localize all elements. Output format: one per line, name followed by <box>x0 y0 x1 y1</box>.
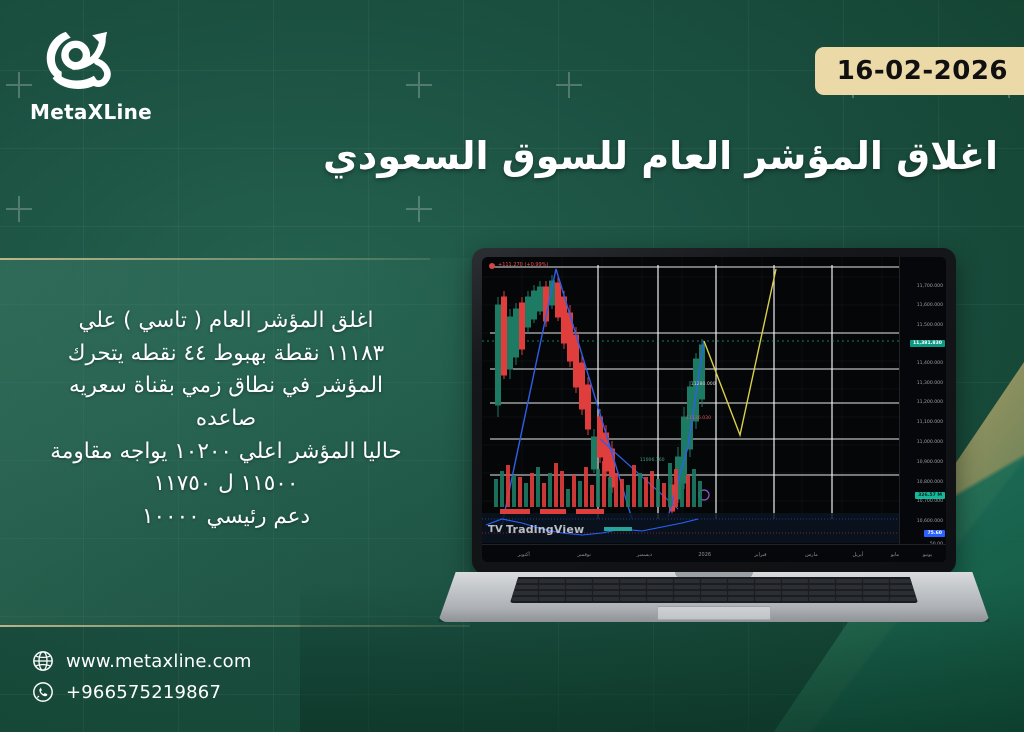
time-tick: 2026 <box>698 552 711 558</box>
time-tick: فبراير <box>754 552 766 558</box>
price-tick: 11,000.000 <box>917 440 943 445</box>
grid-plus-icon <box>556 72 582 98</box>
body-line: ١١١٨٣ نقطة بهبوط ٤٤ نقطه يتحرك <box>0 338 452 371</box>
price-tick: 11,100.000 <box>917 420 943 425</box>
time-tick: يونيو <box>923 552 932 558</box>
price-tick: 11,700.000 <box>917 284 943 289</box>
tradingview-logo-icon: TV <box>488 524 503 535</box>
laptop-lid: +111.270 (+0.99%) 11136.030 11006.160 11… <box>472 248 956 574</box>
price-tick: 11,300.000 <box>917 381 943 386</box>
quote-change-label: +111.270 (+0.99%) <box>498 262 548 268</box>
laptop-keyboard <box>510 577 918 603</box>
body-line: دعم رئيسي ١٠٠٠٠ <box>0 501 452 534</box>
body-line: اغلق المؤشر العام ( تاسي ) علي <box>0 305 452 338</box>
whatsapp-icon <box>32 681 54 703</box>
time-tick: مايو <box>891 552 899 558</box>
phone-text: +966575219867 <box>66 682 221 703</box>
chart-price-axis[interactable]: 11,700.000 11,600.000 11,500.000 11,381.… <box>899 257 946 562</box>
body-line: المؤشر في نطاق زمي بقناة سعريه <box>0 370 452 403</box>
brand-name: MetaXLine <box>30 100 150 124</box>
chart-annotation: 11136.030 <box>686 416 711 421</box>
time-tick: ديسمبر <box>637 552 652 558</box>
price-tick: 10,600.000 <box>917 519 943 524</box>
grid-plus-icon <box>406 72 432 98</box>
laptop-mockup: +111.270 (+0.99%) 11136.030 11006.160 11… <box>438 248 990 648</box>
brand-logo[interactable]: MetaXLine <box>30 22 150 124</box>
page-title: اغلاق المؤشر العام للسوق السعودي <box>238 133 998 181</box>
price-tick: 11,500.000 <box>917 323 943 328</box>
keyboard-row <box>512 591 916 595</box>
poster-canvas: MetaXLine 16-02-2026 اغلاق المؤشر العام … <box>0 0 1024 732</box>
chart-annotation: 11006.160 <box>640 458 665 463</box>
website-text: www.metaxline.com <box>66 651 252 672</box>
yellow-projection <box>704 269 776 435</box>
chart-time-axis[interactable]: أكتوبر نوفمبر ديسمبر 2026 فبراير مارس أب… <box>482 544 946 562</box>
time-tick: نوفمبر <box>577 552 591 558</box>
grid-plus-icon <box>6 72 32 98</box>
price-tick: 11,400.000 <box>917 361 943 366</box>
volume-badge: 326.57 M <box>915 492 945 499</box>
price-tick: 10,900.000 <box>917 460 943 465</box>
rsi-badge: 75.60 <box>924 530 945 537</box>
grid-plus-icon <box>406 196 432 222</box>
chart-annotation: 11280.000 <box>691 382 716 387</box>
price-tick: 10,800.000 <box>917 480 943 485</box>
price-tick: 11,600.000 <box>917 303 943 308</box>
grid-plus-icon <box>6 196 32 222</box>
body-copy: اغلق المؤشر العام ( تاسي ) علي ١١١٨٣ نقط… <box>0 305 452 534</box>
body-line: ١١٥٠٠ ل ١١٧٥٠ <box>0 468 452 501</box>
tradingview-chart[interactable]: +111.270 (+0.99%) 11136.030 11006.160 11… <box>482 257 946 562</box>
website-row[interactable]: www.metaxline.com <box>32 650 252 672</box>
tradingview-watermark-text: TradingView <box>506 523 584 536</box>
metaxline-arrow-logo-icon <box>36 22 122 98</box>
time-tick: مارس <box>805 552 818 558</box>
time-tick: أبريل <box>852 552 863 558</box>
keyboard-row <box>512 585 916 589</box>
current-price-badge: 11,381.830 <box>910 340 945 347</box>
keyboard-row <box>512 579 916 583</box>
tradingview-watermark: TV TradingView <box>488 523 584 536</box>
body-line: حاليا المؤشر اعلي ١٠٢٠٠ يواجه مقاومة <box>0 436 452 469</box>
time-tick: أكتوبر <box>518 552 530 558</box>
laptop-screen: +111.270 (+0.99%) 11136.030 11006.160 11… <box>482 257 946 562</box>
phone-row[interactable]: +966575219867 <box>32 681 252 703</box>
panel-divider-top <box>0 258 430 260</box>
price-tick: 10,700.000 <box>917 499 943 504</box>
laptop-trackpad <box>657 606 771 620</box>
chart-gridlines <box>482 257 946 562</box>
contact-footer: www.metaxline.com +966575219867 <box>32 650 252 712</box>
body-line: صاعده <box>0 403 452 436</box>
date-badge: 16-02-2026 <box>815 47 1024 95</box>
globe-icon <box>32 650 54 672</box>
quote-marker-icon <box>489 263 495 269</box>
keyboard-row <box>512 597 916 601</box>
price-tick: 11,200.000 <box>917 400 943 405</box>
